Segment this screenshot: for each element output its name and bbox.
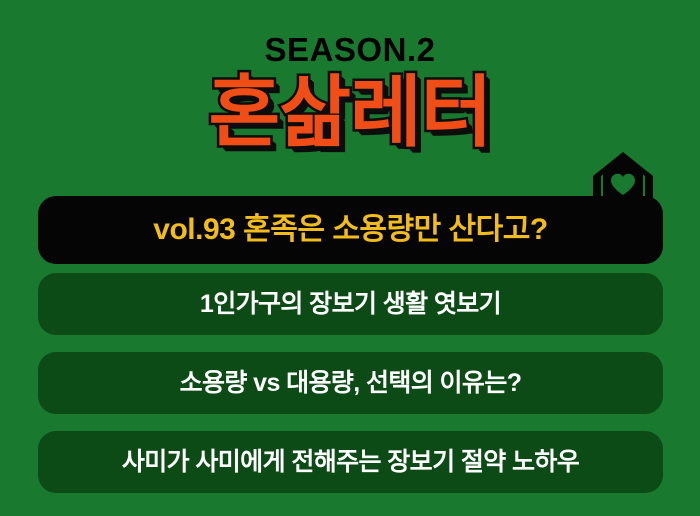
page-title: 혼삶레터 <box>0 72 700 154</box>
topic-bar-3[interactable]: 사미가 사미에게 전해주는 장보기 절약 노하우 <box>38 431 663 493</box>
headline-bar[interactable]: vol.93 혼족은 소용량만 산다고? <box>38 196 663 264</box>
house-heart-icon <box>592 150 654 208</box>
topic-bar-2-label: 소용량 vs 대용량, 선택의 이유는? <box>180 371 522 396</box>
topic-bar-1[interactable]: 1인가구의 장보기 생활 엿보기 <box>38 273 663 335</box>
newsletter-poster: SEASON.2 혼삶레터 vol.93 혼족은 소용량만 산다고? 1인가구의… <box>0 0 700 516</box>
topic-bar-2[interactable]: 소용량 vs 대용량, 선택의 이유는? <box>38 352 663 414</box>
season-label: SEASON.2 <box>0 33 700 66</box>
headline-bar-label: vol.93 혼족은 소용량만 산다고? <box>153 215 547 245</box>
topic-bar-3-label: 사미가 사미에게 전해주는 장보기 절약 노하우 <box>122 450 579 475</box>
topic-bar-1-label: 1인가구의 장보기 생활 엿보기 <box>200 292 501 317</box>
